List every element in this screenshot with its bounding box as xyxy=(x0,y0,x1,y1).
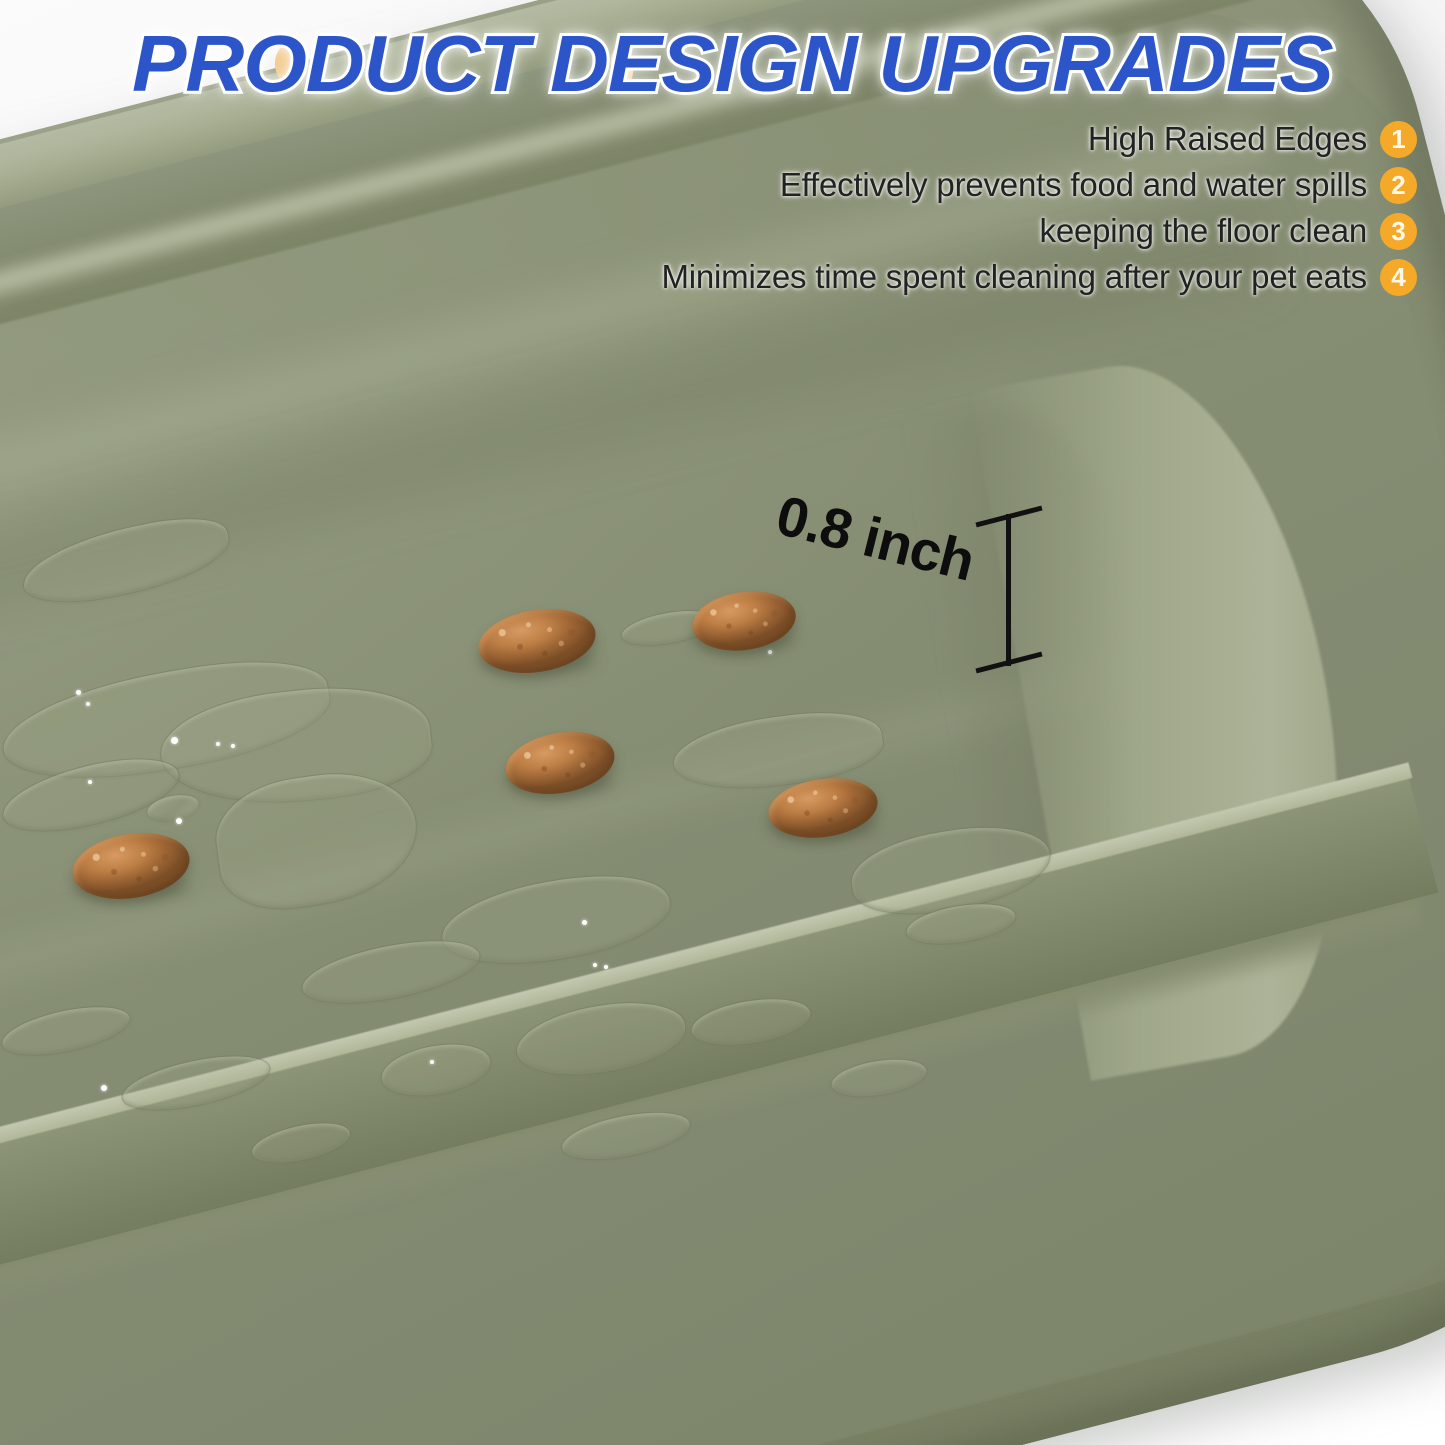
feature-label: keeping the floor clean xyxy=(1040,212,1367,250)
feature-number-badge: 2 xyxy=(1380,167,1417,204)
feature-item: Effectively prevents food and water spil… xyxy=(780,166,1417,204)
page-title: PRODUCT DESIGN UPGRADES xyxy=(132,18,1333,110)
water-specular-highlight xyxy=(88,780,92,784)
water-specular-highlight xyxy=(171,737,178,744)
dimension-beam-icon xyxy=(975,508,1045,673)
water-specular-highlight xyxy=(593,963,597,967)
dimension-line xyxy=(1006,514,1011,666)
water-specular-highlight xyxy=(216,742,220,746)
feature-item: keeping the floor clean 3 xyxy=(1040,212,1417,250)
feature-item: Minimizes time spent cleaning after your… xyxy=(661,258,1417,296)
feature-number-badge: 1 xyxy=(1380,121,1417,158)
feature-label: High Raised Edges xyxy=(1088,120,1367,158)
feature-list: High Raised Edges 1 Effectively prevents… xyxy=(517,120,1417,296)
water-specular-highlight xyxy=(582,920,587,925)
water-specular-highlight xyxy=(101,1085,107,1091)
feature-number-badge: 4 xyxy=(1380,259,1417,296)
feature-label: Effectively prevents food and water spil… xyxy=(780,166,1367,204)
water-specular-highlight xyxy=(604,965,608,969)
feature-item: High Raised Edges 1 xyxy=(1088,120,1417,158)
feature-label: Minimizes time spent cleaning after your… xyxy=(661,258,1367,296)
product-infographic: 0.8 inch PRODUCT DESIGN UPGRADES High Ra… xyxy=(0,0,1445,1445)
water-specular-highlight xyxy=(231,744,235,748)
water-specular-highlight xyxy=(86,702,90,706)
feature-number-badge: 3 xyxy=(1380,213,1417,250)
water-specular-highlight xyxy=(430,1060,434,1064)
water-specular-highlight xyxy=(76,690,81,695)
water-specular-highlight xyxy=(176,818,182,824)
